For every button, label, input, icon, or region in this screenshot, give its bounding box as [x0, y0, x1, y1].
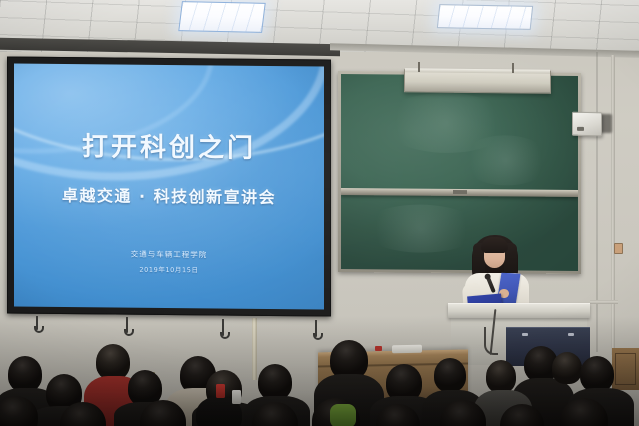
- lectern-top: [448, 303, 590, 318]
- chalk-smudge: [461, 135, 551, 186]
- audience-head: [96, 344, 130, 380]
- chalk-tray-rail: [341, 188, 578, 197]
- audience-head: [552, 352, 582, 384]
- projection-screen: 打开科创之门 卓越交通 · 科技创新宣讲会 交通与车辆工程学院 2019年10月…: [7, 56, 331, 316]
- ceiling-light-panel-left: [178, 1, 265, 33]
- audience-head: [486, 360, 516, 393]
- projected-slide: 打开科创之门 卓越交通 · 科技创新宣讲会 交通与车辆工程学院 2019年10月…: [14, 64, 324, 310]
- board-light-valance: [404, 69, 551, 94]
- lecture-hall-photo: 打开科创之门 卓越交通 · 科技创新宣讲会 交通与车辆工程学院 2019年10月…: [0, 0, 639, 426]
- wall-mounted-speaker: [572, 112, 602, 137]
- audience-head: [434, 358, 466, 392]
- valance-rod: [418, 62, 420, 72]
- wall-junction-box: [614, 243, 623, 254]
- wall-seam: [596, 52, 598, 352]
- ceiling-light-panel-right: [437, 4, 533, 30]
- audience-head: [258, 364, 292, 400]
- white-phone: [232, 390, 241, 404]
- valance-rod: [512, 63, 514, 73]
- slide-subtitle: 卓越交通 · 科技创新宣讲会: [14, 182, 324, 209]
- slide-title: 打开科创之门: [14, 126, 324, 166]
- audience-head: [8, 356, 42, 392]
- audience-head: [580, 356, 614, 392]
- red-phone: [216, 384, 225, 398]
- wall-conduit-vertical: [611, 55, 615, 355]
- wall-hook: [36, 316, 38, 330]
- green-jacket: [330, 404, 356, 426]
- speaker-bangs: [481, 237, 508, 253]
- wall-conduit-horizontal: [590, 300, 618, 304]
- seated-students: [0, 330, 639, 426]
